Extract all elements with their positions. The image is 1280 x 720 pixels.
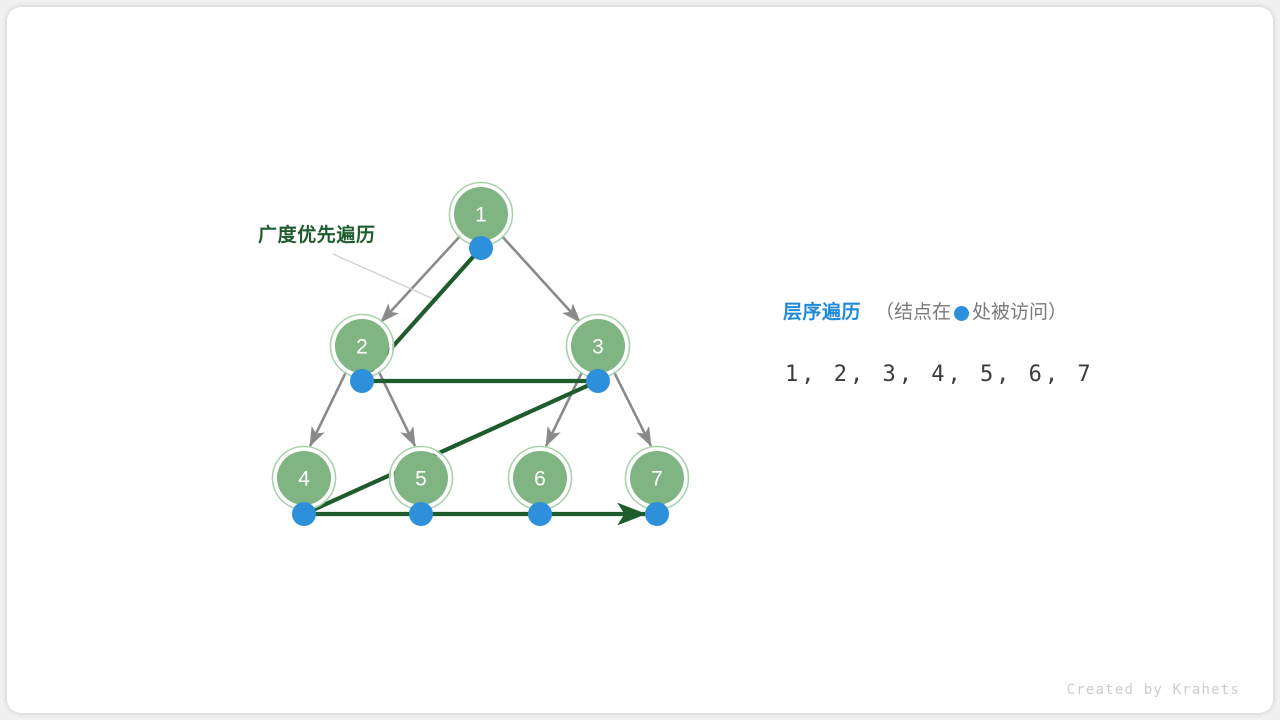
tree-node-7[interactable]: 7 <box>626 447 689 510</box>
screenshot-stage: 1 2 3 4 <box>0 0 1280 720</box>
node-label: 5 <box>415 468 427 491</box>
tree-node-4[interactable]: 4 <box>273 447 336 510</box>
tree-node-3[interactable]: 3 <box>567 315 630 378</box>
visit-dot-node-1[interactable] <box>469 236 493 260</box>
legend-line: 层序遍历 （结点在 处被访问） <box>783 300 1213 326</box>
visit-dot-node-6[interactable] <box>528 502 552 526</box>
visit-dot-node-2[interactable] <box>350 369 374 393</box>
legend-block: 层序遍历 （结点在 处被访问） <box>783 300 1213 326</box>
traversal-sequence: 1, 2, 3, 4, 5, 6, 7 <box>785 362 1094 387</box>
legend-note-suffix: 处被访问） <box>972 300 1067 326</box>
node-label: 4 <box>298 468 310 491</box>
tree-node-6[interactable]: 6 <box>509 447 572 510</box>
legend-note-prefix: （结点在 <box>875 300 951 326</box>
bfs-tree-figure: 1 2 3 4 <box>0 0 1280 720</box>
node-label: 7 <box>651 468 663 491</box>
visit-dot-node-4[interactable] <box>292 502 316 526</box>
tree-node-2[interactable]: 2 <box>331 315 394 378</box>
blue-dot-icon <box>954 306 969 321</box>
tree-edge-1-3 <box>500 234 580 322</box>
footer-credit: Created by Krahets <box>1067 682 1240 698</box>
legend-title: 层序遍历 <box>783 300 861 326</box>
legend-note: （结点在 处被访问） <box>875 300 1067 326</box>
visit-dot-node-3[interactable] <box>586 369 610 393</box>
bfs-annotation-label: 广度优先遍历 <box>258 220 376 247</box>
node-label: 3 <box>592 336 604 359</box>
tree-node-5[interactable]: 5 <box>390 447 453 510</box>
tree-edge-1-2 <box>381 234 462 322</box>
node-label: 2 <box>356 336 368 359</box>
tree-edge-2-4 <box>310 370 347 446</box>
visit-dot-node-7[interactable] <box>645 502 669 526</box>
tree-edge-3-7 <box>613 370 651 446</box>
node-label: 1 <box>475 204 487 227</box>
node-label: 6 <box>534 468 546 491</box>
visit-dot-node-5[interactable] <box>409 502 433 526</box>
